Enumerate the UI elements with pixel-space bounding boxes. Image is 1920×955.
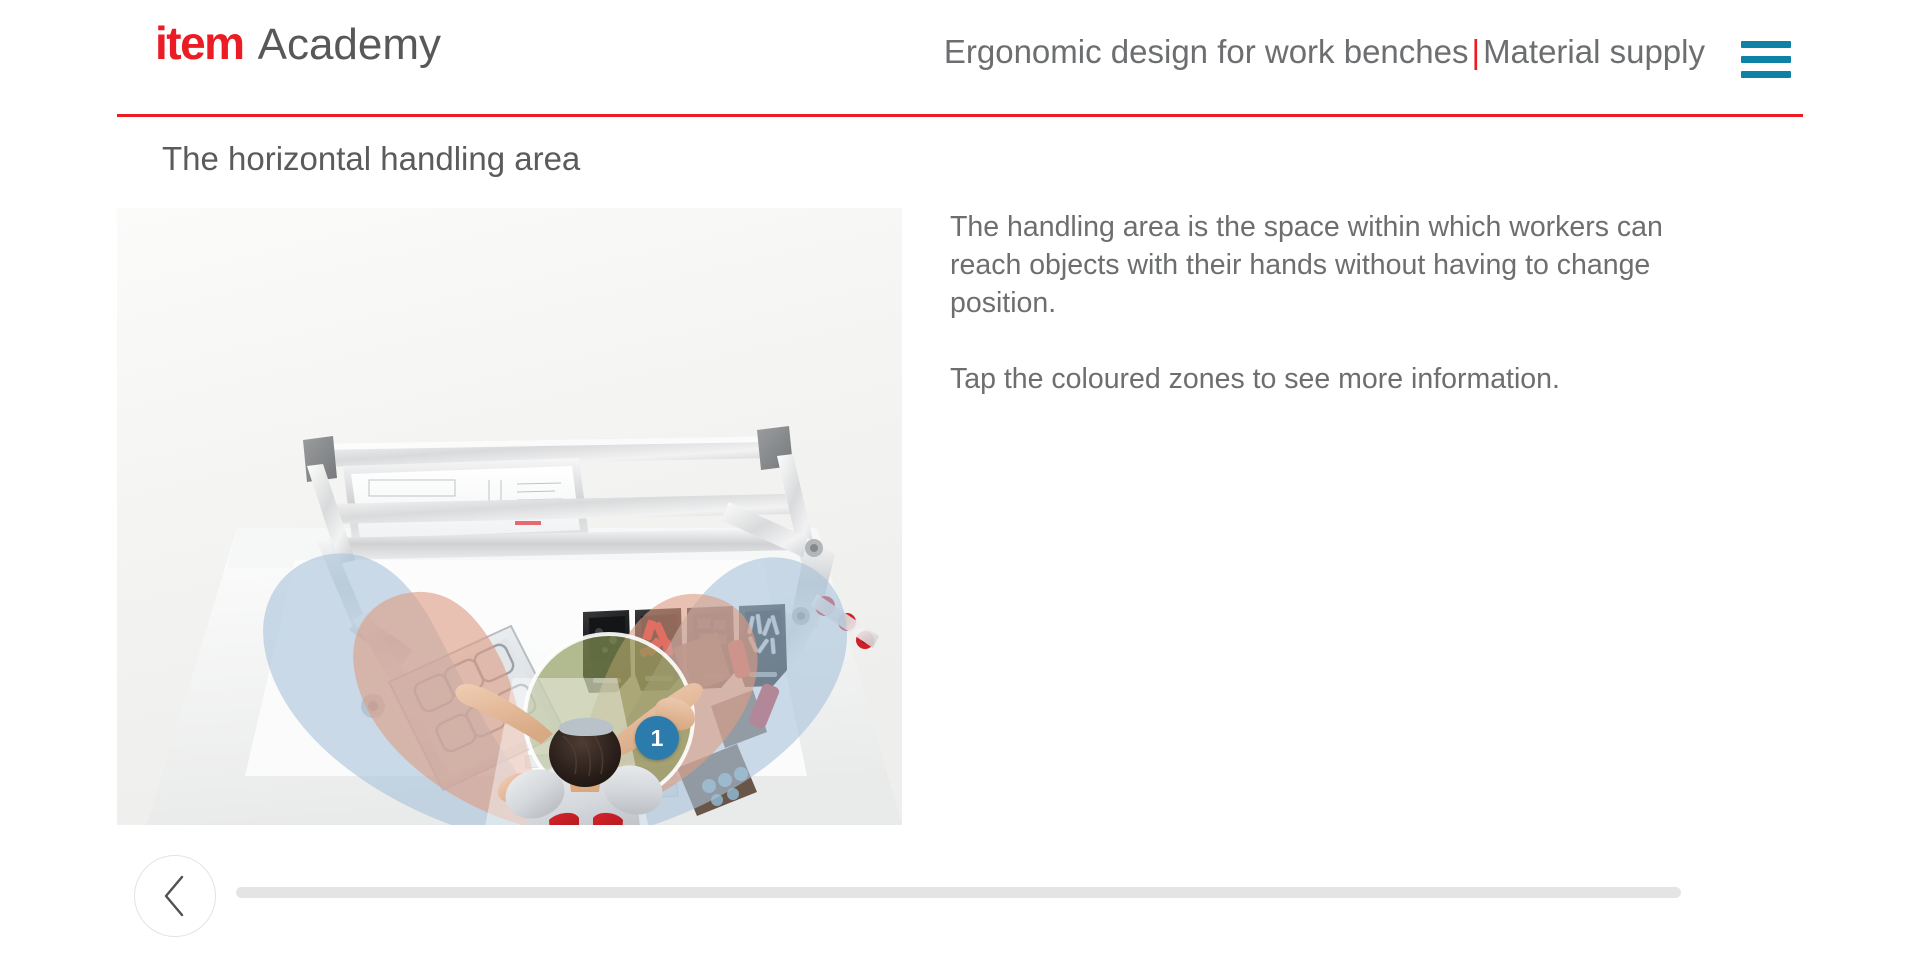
course-title-sub: Material supply <box>1483 33 1705 70</box>
course-title-main: Ergonomic design for work benches <box>944 33 1469 70</box>
logo-brand-text: item <box>155 20 244 66</box>
app-header: item Academy Ergonomic design for work b… <box>0 0 1920 116</box>
page-title: The horizontal handling area <box>162 140 580 178</box>
hamburger-bar-3 <box>1741 71 1791 78</box>
hamburger-bar-2 <box>1741 56 1791 63</box>
chevron-left-icon <box>162 874 188 918</box>
workbench-scene-graphic <box>117 208 902 825</box>
lesson-text: The handling area is the space within wh… <box>950 208 1670 398</box>
hamburger-bar-1 <box>1741 41 1791 48</box>
header-divider <box>117 114 1803 117</box>
handling-area-illustration[interactable]: 1 2 3 <box>117 208 902 825</box>
zone-marker-1[interactable]: 1 <box>635 716 679 760</box>
course-title: Ergonomic design for work benches|Materi… <box>944 33 1705 71</box>
lesson-paragraph-1: The handling area is the space within wh… <box>950 208 1670 322</box>
logo-suffix-text: Academy <box>258 23 441 67</box>
lesson-progress-bar[interactable] <box>236 887 1681 898</box>
course-title-separator: | <box>1468 33 1483 70</box>
brand-logo[interactable]: item Academy <box>155 20 441 67</box>
lesson-paragraph-2: Tap the coloured zones to see more infor… <box>950 360 1670 398</box>
previous-slide-button[interactable] <box>134 855 216 937</box>
hamburger-menu-icon[interactable] <box>1741 41 1791 77</box>
